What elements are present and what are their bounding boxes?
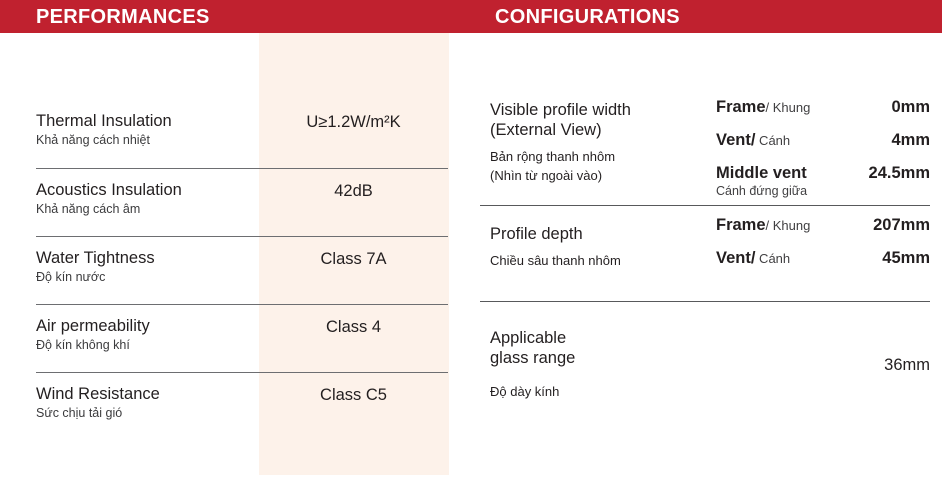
performance-title: Acoustics Insulation [36, 180, 261, 200]
table-row: Wind Resistance Sức chịu tải gió Class C… [36, 372, 448, 440]
list-item: Middle vent Cánh đứng giữa 24.5mm [716, 162, 930, 204]
config-item-name-main: Frame [716, 216, 766, 234]
config-label: Visible profile width (External View) Bả… [490, 100, 720, 185]
config-item-value: 4mm [891, 129, 930, 151]
config-block: Profile depth Chiều sâu thanh nhôm Frame… [480, 205, 930, 301]
table-row: Thermal Insulation Khả năng cách nhiệt U… [36, 100, 448, 168]
list-item: Vent/ Cánh 45mm [716, 247, 930, 280]
performance-subtitle: Khả năng cách âm [36, 201, 261, 218]
performances-table: Thermal Insulation Khả năng cách nhiệt U… [36, 100, 448, 440]
performances-header-title: PERFORMANCES [36, 6, 210, 29]
config-label: Profile depth Chiều sâu thanh nhôm [490, 224, 720, 270]
config-item-value: 207mm [873, 214, 930, 236]
configurations-header-title: CONFIGURATIONS [495, 6, 680, 29]
performance-title: Wind Resistance [36, 384, 261, 404]
performance-label: Wind Resistance Sức chịu tải gió [36, 384, 261, 422]
performance-subtitle: Độ kín nước [36, 269, 261, 286]
configurations-table: Visible profile width (External View) Bả… [480, 88, 930, 411]
config-item-name-main: Vent/ [716, 131, 755, 149]
performance-label: Water Tightness Độ kín nước [36, 248, 261, 286]
config-subtitle-line1: Chiều sâu thanh nhôm [490, 251, 720, 270]
config-item-name: Frame/ Khung [716, 214, 810, 237]
config-item-name-sub: Cánh [755, 133, 790, 148]
list-item: Frame/ Khung 0mm [716, 96, 930, 129]
config-block: Visible profile width (External View) Bả… [480, 88, 930, 205]
performance-value: Class 7A [259, 249, 448, 270]
performance-title: Water Tightness [36, 248, 261, 268]
performance-subtitle: Sức chịu tải gió [36, 405, 261, 422]
list-item: Frame/ Khung 207mm [716, 214, 930, 247]
config-item-name-main: Frame [716, 98, 766, 116]
config-item-name: Vent/ Cánh [716, 129, 790, 152]
config-label: Applicable glass range Độ dày kính [490, 328, 720, 401]
config-item-subtitle: Cánh đứng giữa [716, 183, 807, 199]
config-title-line1: Visible profile width [490, 100, 720, 120]
config-item-name: Frame/ Khung [716, 96, 810, 119]
performance-value: Class 4 [259, 317, 448, 338]
config-item-value: 0mm [891, 96, 930, 118]
config-item-name-main: Middle vent [716, 164, 807, 182]
table-row: Air permeability Độ kín không khí Class … [36, 304, 448, 372]
config-title-line2: glass range [490, 348, 720, 368]
config-item-name: Vent/ Cánh [716, 247, 790, 270]
config-item-name: Middle vent [716, 162, 807, 185]
performance-value: 42dB [259, 181, 448, 202]
table-row: Acoustics Insulation Khả năng cách âm 42… [36, 168, 448, 236]
config-item-name-sub: / Khung [766, 100, 811, 115]
list-item: Vent/ Cánh 4mm [716, 129, 930, 162]
performance-subtitle: Khả năng cách nhiệt [36, 132, 261, 149]
config-items: Frame/ Khung 207mm Vent/ Cánh 45mm [716, 214, 930, 280]
spec-sheet: PERFORMANCES CONFIGURATIONS Thermal Insu… [0, 0, 942, 482]
config-item-name-sub: Cánh [755, 251, 790, 266]
performance-title: Air permeability [36, 316, 261, 336]
config-title-line2: (External View) [490, 120, 720, 140]
performance-label: Thermal Insulation Khả năng cách nhiệt [36, 111, 261, 149]
config-subtitle-line2: (Nhìn từ ngoài vào) [490, 166, 720, 185]
config-item-name-sub: / Khung [766, 218, 811, 233]
config-title-line1: Profile depth [490, 224, 720, 244]
performance-value: Class C5 [259, 385, 448, 406]
performance-subtitle: Độ kín không khí [36, 337, 261, 354]
performance-title: Thermal Insulation [36, 111, 261, 131]
config-subtitle-line1: Bản rộng thanh nhôm [490, 147, 720, 166]
config-items: Frame/ Khung 0mm Vent/ Cánh 4mm Middle v… [716, 96, 930, 204]
config-item-name-main: Vent/ [716, 249, 755, 267]
config-item-value: 24.5mm [869, 162, 930, 184]
performance-label: Air permeability Độ kín không khí [36, 316, 261, 354]
config-subtitle-line1: Độ dày kính [490, 382, 720, 401]
config-title-line1: Applicable [490, 328, 720, 348]
config-item-value: 45mm [882, 247, 930, 269]
performance-value: U≥1.2W/m²K [259, 112, 448, 133]
config-block: Applicable glass range Độ dày kính 36mm [480, 301, 930, 411]
config-item-value: 36mm [884, 354, 930, 376]
performance-label: Acoustics Insulation Khả năng cách âm [36, 180, 261, 218]
header-bar: PERFORMANCES CONFIGURATIONS [0, 0, 942, 33]
table-row: Water Tightness Độ kín nước Class 7A [36, 236, 448, 304]
